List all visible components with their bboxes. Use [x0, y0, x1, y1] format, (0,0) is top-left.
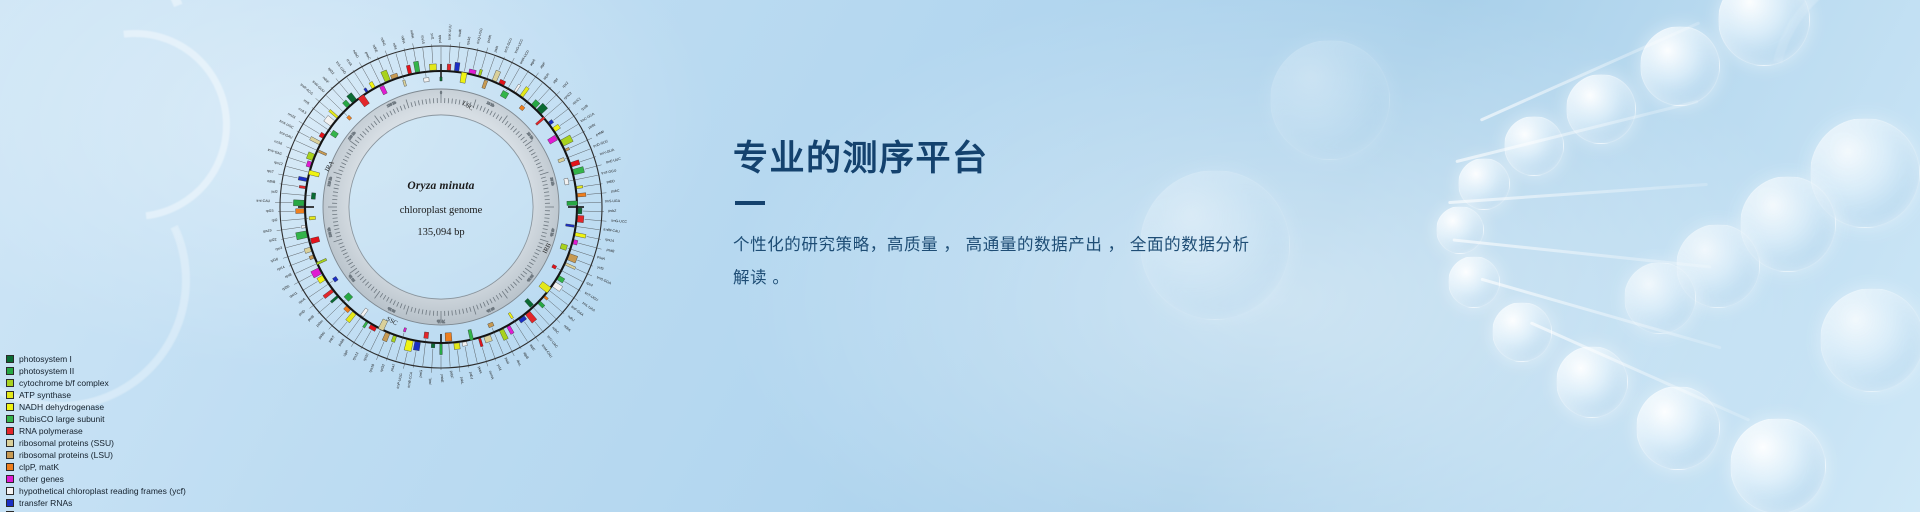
gene-label: rps15	[420, 35, 425, 44]
helix-bead	[1640, 26, 1720, 106]
gene-feature-block	[424, 78, 430, 83]
gene-label: psbM	[595, 130, 605, 137]
gene-label: ycf1	[430, 33, 434, 40]
gene-label: psbK	[486, 34, 492, 43]
gene-label: rps8	[284, 272, 292, 278]
gene-label: rpl2	[272, 218, 278, 222]
gene-feature-block	[382, 332, 390, 342]
legend-row: ribosomal proteins (SSU)	[6, 437, 186, 449]
gene-label: petG	[418, 369, 423, 377]
gene-feature-block	[558, 157, 565, 162]
gene-feature-block	[577, 215, 584, 222]
legend-label: hypothetical chloroplast reading frames …	[19, 485, 186, 497]
gene-label: trnL-UAG	[335, 61, 347, 76]
gene-feature-block	[454, 62, 460, 71]
legend-row: cytochrome b/f complex	[6, 377, 186, 389]
page-title: 专业的测序平台	[733, 140, 1333, 179]
gene-feature-block	[406, 65, 411, 74]
gene-label: psbT	[328, 334, 337, 343]
gene-label: trnE-UUC	[606, 157, 622, 165]
gene-feature-block	[308, 170, 319, 177]
gene-label: ccsA	[345, 58, 353, 67]
gene-feature-block	[330, 130, 338, 138]
gene-feature-block	[310, 237, 319, 244]
gene-feature-block	[454, 343, 460, 350]
gene-feature-block	[358, 95, 369, 107]
gene-feature-block	[369, 81, 375, 88]
legend-label: ATP synthase	[19, 389, 71, 401]
gene-feature-block	[311, 193, 316, 200]
gene-label: psaI	[504, 357, 510, 365]
gene-feature-block	[500, 90, 509, 99]
gene-label: matK	[458, 28, 463, 37]
gene-feature-block	[499, 329, 508, 341]
legend-row: transfer RNAs	[6, 497, 186, 509]
gene-label: rps7	[267, 169, 275, 174]
gene-label: trnR-UCU	[519, 49, 530, 65]
gene-feature-block	[548, 135, 558, 144]
legend-row: RNA polymerase	[6, 425, 186, 437]
gene-label: rps14	[605, 237, 614, 243]
gene-label: ndhA	[400, 35, 406, 45]
gene-label: rps4	[586, 281, 594, 288]
helix-bead	[1718, 0, 1810, 66]
legend-color-swatch	[6, 439, 14, 447]
gene-feature-block	[364, 88, 368, 93]
gene-feature-block	[447, 64, 451, 70]
legend-label: cytochrome b/f complex	[19, 377, 109, 389]
helix-rung	[1480, 21, 1700, 121]
gene-label: psbZ	[608, 209, 617, 213]
legend-label: photosystem II	[19, 365, 74, 377]
gene-label: psaA	[597, 255, 606, 261]
legend-row: clpP, matK	[6, 461, 186, 473]
gene-feature-block	[519, 105, 525, 111]
dna-swirl-left-mid	[2, 0, 269, 258]
gene-label: trnI-GAU	[279, 130, 294, 140]
gene-label: trnG-UCC	[611, 219, 627, 224]
gene-label: trnF-GAA	[570, 305, 585, 318]
gene-label: ndhI	[392, 42, 398, 50]
gene-label: trnT-UGU	[584, 291, 599, 302]
legend-color-swatch	[6, 427, 14, 435]
gene-feature-block	[578, 208, 582, 214]
gene-label: trnG-UCC	[514, 38, 525, 54]
gene-feature-block	[391, 335, 396, 342]
banner-description: 个性化的研究策略，高质量 ， 高通量的数据产出 ， 全面的数据分析解读 。	[733, 229, 1253, 295]
gene-label: petA	[477, 366, 483, 375]
legend-color-swatch	[6, 379, 14, 387]
helix-bead	[1624, 262, 1696, 334]
legend-color-swatch	[6, 391, 14, 399]
helix-rung	[1455, 100, 1698, 163]
gene-feature-block	[424, 332, 429, 339]
gene-label: ndhC	[551, 326, 560, 335]
gene-feature-block	[552, 264, 557, 269]
gene-label: petD	[298, 309, 307, 317]
gene-label: trnM-CAU	[541, 344, 554, 359]
helix-bead	[1492, 302, 1552, 362]
gene-feature-block	[309, 216, 315, 220]
gene-feature-block	[508, 312, 513, 318]
gene-label: rrn23	[287, 112, 296, 120]
gene-label: psbA	[438, 34, 442, 43]
gene-label: atpE	[529, 343, 537, 352]
helix-rung	[1530, 321, 1750, 421]
gene-feature-block	[440, 344, 443, 355]
gene-label: rpl16	[270, 257, 279, 263]
legend-label: clpP, matK	[19, 461, 59, 473]
gene-feature-block	[560, 243, 568, 250]
legend-row: hypothetical chloroplast reading frames …	[6, 485, 186, 497]
gene-feature-block	[565, 147, 570, 151]
helix-bead	[1676, 224, 1760, 308]
gene-label: trnT-GGU	[601, 168, 617, 175]
helix-bead	[1504, 116, 1564, 176]
gene-feature-block	[363, 322, 368, 329]
gene-label: trnS-GCU	[503, 37, 513, 53]
gene-label: ndhH	[409, 30, 414, 39]
gene-label: rps3	[275, 246, 283, 252]
helix-bead	[1730, 418, 1826, 512]
legend-color-swatch	[6, 355, 14, 363]
gene-feature-block	[304, 247, 311, 253]
gene-label: rpoB	[580, 103, 589, 111]
chloroplast-genome-map: 010 kb20 kb30 kb40 kb50 kb60 kb70 kb80 k…	[236, 2, 646, 412]
gene-label: psbJ	[469, 372, 474, 380]
gene-label: trnfM-CAU	[603, 227, 620, 233]
gene-label: rpl32	[327, 67, 335, 76]
gene-label: petB	[307, 314, 316, 322]
legend-label: other genes	[19, 473, 64, 485]
gene-feature-block	[381, 70, 391, 82]
gene-feature-block	[298, 176, 307, 181]
gene-feature-block	[520, 87, 529, 98]
gene-label: ndhJ	[567, 314, 576, 322]
legend-color-swatch	[6, 403, 14, 411]
gene-feature-block	[576, 185, 582, 188]
gene-label: rps2	[562, 81, 570, 89]
gene-label: psaC	[364, 51, 371, 61]
gene-feature-block	[330, 296, 338, 303]
gene-feature-block	[445, 333, 452, 342]
gene-feature-block	[571, 160, 580, 167]
svg-text:70 kb: 70 kb	[437, 319, 445, 323]
helix-bead	[1566, 74, 1636, 144]
gene-label: ndhG	[380, 37, 387, 47]
gene-label: atpH	[542, 72, 550, 81]
legend-row: photosystem I	[6, 353, 186, 365]
gene-feature-block	[299, 185, 305, 188]
helix-bead	[1556, 346, 1628, 418]
gene-label: trnR-ACG	[299, 83, 313, 96]
gene-label: rrn16	[274, 139, 283, 146]
gene-label: rps19	[263, 228, 272, 233]
gene-label: ndhB	[267, 179, 276, 184]
legend-row: other genes	[6, 473, 186, 485]
legend-label: RNA polymerase	[19, 425, 83, 437]
legend-color-swatch	[6, 475, 14, 483]
gene-label: trnA-UGC	[279, 119, 295, 130]
gene-label: rpl23	[266, 209, 274, 213]
legend-row: photosystem II	[6, 365, 186, 377]
gene-feature-block	[492, 70, 500, 82]
gene-label: atpI	[552, 77, 559, 84]
gene-label: rpl36	[281, 284, 290, 291]
gene-label: rpoC1	[572, 96, 582, 105]
gene-feature-block	[482, 80, 488, 89]
gene-label: psaB	[606, 248, 615, 254]
gene-feature-block	[310, 136, 321, 144]
gene-label: psbC	[611, 189, 620, 194]
helix-rung	[1480, 278, 1721, 350]
gene-feature-block	[460, 72, 467, 83]
gene-label: psbN	[318, 331, 327, 340]
gene-label: trnV-GAC	[267, 148, 283, 157]
gene-label: ndhF	[322, 76, 330, 85]
gene-feature-block	[577, 193, 586, 197]
gene-feature-block	[346, 312, 356, 323]
gene-label: atpA	[529, 58, 537, 67]
gene-label: rpoA	[298, 297, 307, 305]
gene-label: ndhD	[352, 49, 360, 59]
gene-label: psbF	[449, 371, 453, 379]
helix-bead	[1820, 288, 1920, 392]
gene-label: trnK-UUU	[448, 24, 453, 40]
legend-color-swatch	[6, 367, 14, 375]
gene-feature-block	[468, 329, 474, 340]
gene-label: trnP-UGG	[396, 373, 403, 389]
gene-label: rpl22	[269, 237, 277, 242]
helix-bead	[1436, 206, 1484, 254]
gene-label: clpP	[342, 349, 349, 357]
helix-bead	[1636, 386, 1720, 470]
gene-label: ndhE	[372, 44, 379, 54]
gene-label: rbcL	[516, 359, 523, 367]
legend-color-swatch	[6, 499, 14, 507]
gene-label: rpl20	[363, 353, 370, 362]
gene-label: trnI-CAU	[256, 199, 270, 203]
gene-label: trnC-GCA	[580, 111, 596, 123]
gene-feature-block	[413, 61, 419, 72]
helix-bead	[1740, 176, 1836, 272]
gene-feature-block	[429, 64, 436, 71]
gene-feature-block	[403, 328, 406, 332]
legend-color-swatch	[6, 463, 14, 471]
gene-label: rps12	[352, 351, 360, 361]
gene-feature-block	[293, 200, 304, 206]
gene-label: cemA	[488, 370, 495, 380]
gene-feature-block	[361, 308, 369, 317]
gene-feature-block	[323, 289, 334, 298]
helix-rung	[1453, 238, 1712, 268]
gene-label: atpF	[539, 61, 546, 69]
gene-label: ycf3	[597, 265, 604, 271]
svg-text:SSC: SSC	[385, 316, 399, 328]
gene-feature-block	[403, 80, 407, 87]
legend-row: NADH dehydrogenase	[6, 401, 186, 413]
gene-label: trnD-GUC	[593, 139, 609, 149]
legend-label: NADH dehydrogenase	[19, 401, 104, 413]
gene-label: petN	[588, 123, 597, 130]
gene-feature-block	[301, 225, 305, 228]
gene-label: psbI	[493, 45, 499, 53]
gene-label: petL	[428, 377, 432, 384]
gene-label: rpl33	[379, 364, 385, 373]
gene-label: psbE	[440, 375, 444, 384]
gene-label: trnV-UAC	[546, 335, 559, 349]
legend-row: RubisCO large subunit	[6, 413, 186, 425]
gene-label: rrn5	[303, 99, 310, 106]
gene-label: rpl14	[277, 265, 286, 272]
gene-label: psbB	[337, 337, 345, 346]
gene-feature-block	[514, 84, 521, 92]
gene-feature-block	[566, 224, 575, 227]
gene-feature-block	[431, 344, 435, 348]
gene-feature-block	[296, 231, 308, 240]
gene-label: psbH	[315, 319, 324, 328]
gene-feature-block	[507, 325, 514, 334]
gene-feature-block	[573, 167, 585, 175]
gene-feature-block	[478, 69, 482, 76]
gene-label: ycf4	[496, 364, 502, 371]
gene-feature-block	[413, 341, 420, 350]
gene-label: psaJ	[390, 363, 396, 371]
helix-rung	[1448, 183, 1708, 204]
legend-label: ribosomal proteins (LSU)	[19, 449, 113, 461]
gene-feature-block	[525, 298, 534, 307]
gene-feature-block	[575, 233, 586, 239]
title-underline-rule	[735, 201, 765, 205]
gene-feature-block	[404, 340, 413, 352]
dna-swirl-right-far	[1721, 0, 1920, 269]
gene-feature-block	[564, 178, 569, 185]
gene-feature-block	[488, 322, 494, 328]
gene-label: psbL	[459, 377, 464, 385]
gene-label: ndhK	[563, 324, 572, 333]
legend-label: ribosomal proteins (SSU)	[19, 437, 114, 449]
gene-feature-block	[539, 281, 551, 293]
gene-label: trnW-CCA	[407, 371, 414, 388]
gene-feature-block	[347, 115, 352, 120]
dna-swirl-left-top	[0, 0, 227, 197]
gene-feature-block	[380, 85, 388, 94]
banner-root: 010 kb20 kb30 kb40 kb50 kb60 kb70 kb80 k…	[0, 0, 1920, 512]
gene-label: rpoC2	[563, 91, 573, 100]
gene-feature-block	[567, 201, 578, 206]
gene-label: trnS-GGA	[596, 275, 612, 285]
gene-label: rps16	[466, 36, 471, 45]
legend-row: ribosomal proteins (LSU)	[6, 449, 186, 461]
gene-feature-block	[565, 263, 576, 270]
gene-feature-block	[316, 258, 327, 264]
gene-label: trnQ-UUG	[476, 28, 484, 45]
gene-label: trnS-UGA	[605, 199, 621, 203]
gene-label: rps11	[289, 291, 298, 299]
helix-bead	[1458, 158, 1510, 210]
gene-label: psbD	[606, 179, 615, 184]
gene-feature-block	[536, 117, 546, 126]
gene-feature-block	[332, 276, 338, 282]
banner-copy: 专业的测序平台 个性化的研究策略，高质量 ， 高通量的数据产出 ， 全面的数据分…	[733, 140, 1333, 295]
legend-color-swatch	[6, 415, 14, 423]
gene-label: atpB	[522, 351, 529, 360]
legend-label: RubisCO large subunit	[19, 413, 105, 425]
gene-label: trnY-GUA	[599, 148, 615, 157]
helix-bead	[1448, 256, 1500, 308]
gene-label: rps12	[274, 160, 284, 166]
legend-color-swatch	[6, 451, 14, 459]
legend-label: transfer RNAs	[19, 497, 72, 509]
gene-label: rps18	[368, 363, 375, 373]
legend-label: photosystem I	[19, 353, 72, 365]
gene-feature-block	[478, 338, 483, 347]
gene-label: trnL-UAA	[582, 301, 597, 313]
gene-label: ycf2	[271, 189, 278, 194]
gene-label: rrn4.5	[297, 107, 307, 115]
gene-feature-block	[440, 77, 442, 81]
gene-feature-block	[318, 150, 327, 156]
legend-color-swatch	[6, 487, 14, 495]
helix-bead	[1810, 118, 1920, 228]
genome-legend: photosystem Iphotosystem IIcytochrome b/…	[6, 353, 186, 512]
gene-feature-block	[462, 342, 467, 347]
svg-text:0: 0	[440, 91, 442, 95]
legend-row: ATP synthase	[6, 389, 186, 401]
gene-feature-block	[296, 209, 305, 214]
